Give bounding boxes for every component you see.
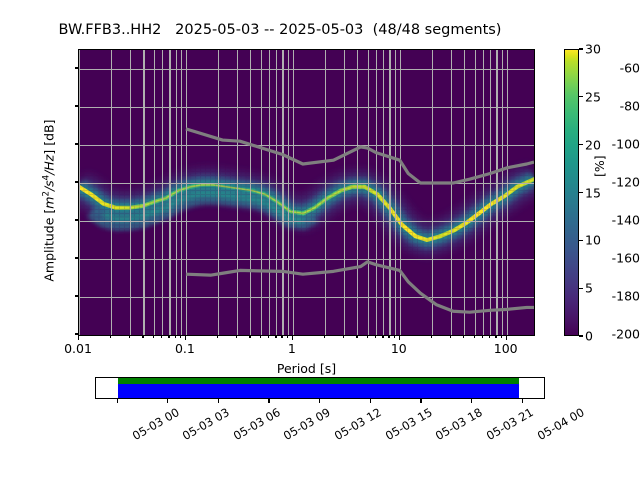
- coverage-tick-mark: [117, 399, 118, 403]
- x-tick-mark-minor: [168, 335, 169, 338]
- x-tick-mark-minor: [324, 335, 325, 338]
- y-tick-mark: [75, 295, 79, 296]
- coverage-tick-label: 05-03 15: [383, 405, 435, 443]
- data-coverage-bar[interactable]: [95, 377, 545, 399]
- x-tick-mark-minor: [367, 335, 368, 338]
- colorbar-tick-label: 25: [585, 89, 601, 104]
- colorbar-tick-label: 15: [585, 185, 601, 200]
- x-tick-mark-minor: [153, 335, 154, 338]
- ppsd-figure: BW.FFB3..HH2 2025-05-03 -- 2025-05-03 (4…: [0, 0, 640, 480]
- x-tick-mark-minor: [382, 335, 383, 338]
- colorbar-tick-label: 30: [585, 42, 601, 57]
- y-tick-label: -140: [572, 213, 640, 228]
- y-tick-mark: [75, 105, 79, 106]
- coverage-tick-label: 05-04 00: [535, 405, 587, 443]
- coverage-tick-label: 05-03 09: [281, 405, 333, 443]
- x-tick-mark-minor: [217, 335, 218, 338]
- x-tick-mark-major: [78, 335, 79, 340]
- ylabel-unit-hz: /Hz: [42, 154, 57, 174]
- x-tick-mark-minor: [495, 335, 496, 338]
- y-tick-mark: [75, 257, 79, 258]
- x-tick-mark-minor: [268, 335, 269, 338]
- colorbar-tick-label: 20: [585, 137, 601, 152]
- x-tick-mark-minor: [110, 335, 111, 338]
- y-tick-label: -180: [572, 289, 640, 304]
- x-tick-mark-minor: [343, 335, 344, 338]
- x-axis-label: Period [s]: [78, 361, 535, 376]
- x-tick-mark-minor: [482, 335, 483, 338]
- x-tick-mark-minor: [175, 335, 176, 338]
- y-tick-mark: [75, 143, 79, 144]
- ppsd-canvas: [79, 50, 534, 335]
- coverage-tick-label: 05-03 18: [433, 405, 485, 443]
- x-tick-mark-major: [506, 335, 507, 340]
- x-tick-label: 0.01: [43, 341, 113, 356]
- coverage-tick-label: 05-03 06: [231, 405, 283, 443]
- coverage-tick-mark: [420, 399, 421, 403]
- x-tick-label: 0.1: [150, 341, 220, 356]
- y-tick-label: -200: [572, 327, 640, 342]
- ylabel-unit-s-exp: 4: [41, 174, 51, 179]
- colorbar-tick-label: 10: [585, 233, 601, 248]
- colorbar-tick-mark: [579, 335, 583, 336]
- coverage-tick-mark: [370, 399, 371, 403]
- x-tick-label: 10: [364, 341, 434, 356]
- coverage-tick-mark: [218, 399, 219, 403]
- x-tick-mark-minor: [142, 335, 143, 338]
- ylabel-prefix: Amplitude [: [42, 208, 57, 281]
- colorbar-tick-label: 0: [585, 329, 593, 344]
- x-tick-mark-minor: [129, 335, 130, 338]
- x-tick-mark-minor: [489, 335, 490, 338]
- x-tick-mark-minor: [287, 335, 288, 338]
- x-tick-mark-minor: [450, 335, 451, 338]
- x-tick-mark-minor: [180, 335, 181, 338]
- ylabel-unit-m: m: [42, 196, 57, 208]
- y-tick-label: -160: [572, 251, 640, 266]
- x-tick-mark-minor: [474, 335, 475, 338]
- ylabel-unit-m-exp: 2: [41, 191, 51, 196]
- colorbar[interactable]: [564, 49, 579, 336]
- colorbar-tick-mark: [579, 288, 583, 289]
- colorbar-tick-label: 5: [585, 281, 593, 296]
- ylabel-suffix: ] [dB]: [42, 119, 57, 154]
- x-tick-mark-minor: [431, 335, 432, 338]
- coverage-segment-blue: [118, 384, 520, 398]
- colorbar-label: [%]: [592, 155, 607, 177]
- y-tick-mark: [75, 181, 79, 182]
- y-axis-label: Amplitude [m2/s4/Hz] [dB]: [41, 55, 56, 345]
- coverage-tick-label: 05-03 21: [484, 405, 536, 443]
- coverage-segments: [96, 378, 544, 398]
- coverage-tick-mark: [167, 399, 168, 403]
- x-tick-mark-minor: [281, 335, 282, 338]
- colorbar-tick-mark: [579, 240, 583, 241]
- y-tick-mark: [75, 67, 79, 68]
- coverage-tick-mark: [319, 399, 320, 403]
- x-tick-mark-minor: [388, 335, 389, 338]
- x-tick-mark-minor: [236, 335, 237, 338]
- x-tick-mark-major: [292, 335, 293, 340]
- x-tick-mark-minor: [394, 335, 395, 338]
- y-gridline: [79, 335, 534, 336]
- ylabel-unit-s: /s: [42, 180, 57, 191]
- noise-model-curves: [79, 50, 534, 335]
- coverage-tick-label: 05-03 03: [180, 405, 232, 443]
- coverage-tick-mark: [471, 399, 472, 403]
- nhnm-curve: [186, 129, 534, 183]
- x-tick-mark-minor: [161, 335, 162, 338]
- x-tick-mark-minor: [356, 335, 357, 338]
- x-tick-mark-minor: [275, 335, 276, 338]
- page-title: BW.FFB3..HH2 2025-05-03 -- 2025-05-03 (4…: [0, 22, 560, 38]
- colorbar-tick-mark: [579, 96, 583, 97]
- y-tick-mark: [75, 219, 79, 220]
- x-tick-label: 1: [257, 341, 327, 356]
- coverage-tick-mark: [268, 399, 269, 403]
- y-tick-label: -80: [572, 99, 640, 114]
- ppsd-plot-area[interactable]: [78, 49, 535, 336]
- x-tick-mark-major: [399, 335, 400, 340]
- colorbar-tick-mark: [579, 192, 583, 193]
- x-tick-label: 100: [471, 341, 541, 356]
- y-tick-label: -60: [572, 61, 640, 76]
- coverage-tick-label: 05-03 12: [332, 405, 384, 443]
- colorbar-tick-mark: [579, 144, 583, 145]
- x-tick-mark-minor: [249, 335, 250, 338]
- x-tick-mark-minor: [463, 335, 464, 338]
- x-tick-mark-major: [185, 335, 186, 340]
- x-tick-mark-minor: [501, 335, 502, 338]
- x-tick-mark-minor: [375, 335, 376, 338]
- coverage-tick-mark: [522, 399, 523, 403]
- coverage-tick-label: 05-03 00: [130, 405, 182, 443]
- nlnm-curve: [186, 262, 534, 312]
- colorbar-tick-mark: [579, 48, 583, 49]
- x-tick-mark-minor: [260, 335, 261, 338]
